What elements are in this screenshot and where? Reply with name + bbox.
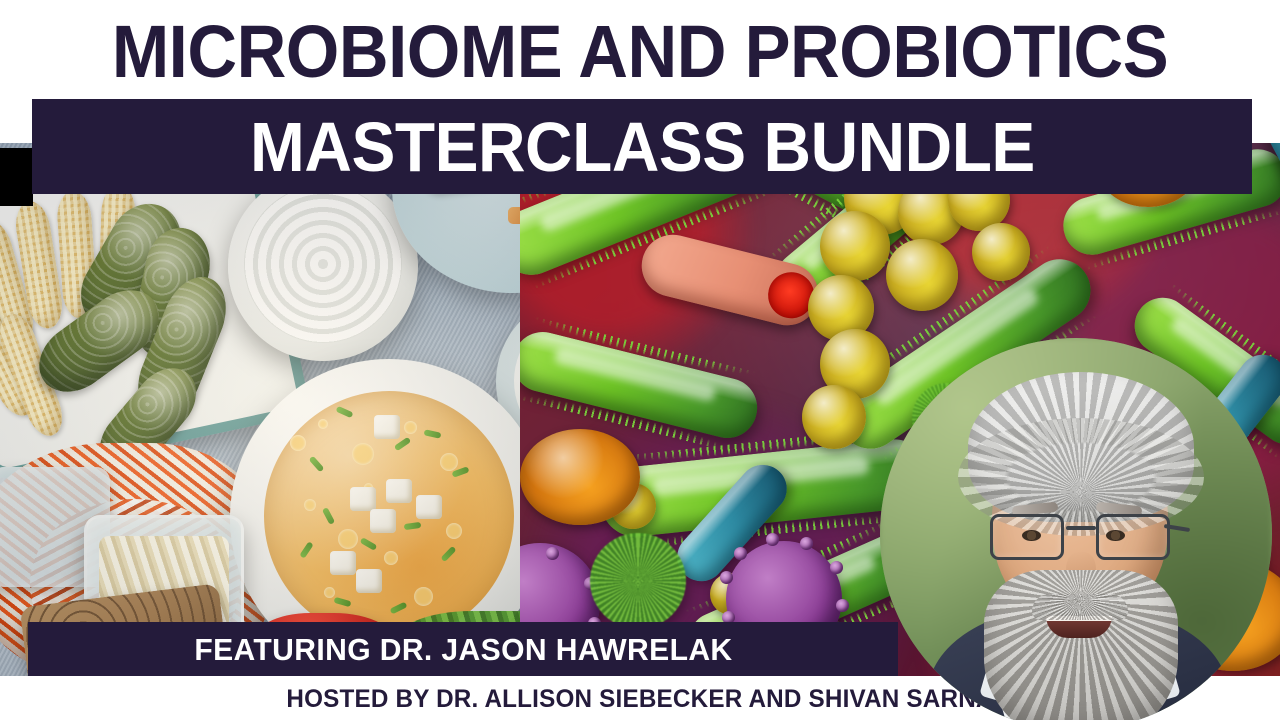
chive	[322, 507, 335, 525]
image-blend-seam	[500, 143, 640, 676]
black-corner-accent	[0, 148, 33, 206]
yellow-coccus	[802, 385, 866, 449]
subtitle-text: MASTERCLASS BUNDLE	[250, 112, 1035, 182]
portrait-eyeglasses	[992, 514, 1168, 562]
baby-corn	[12, 199, 66, 331]
portrait-moustache	[1032, 594, 1128, 620]
miso-broth	[264, 391, 514, 641]
featuring-text: FEATURING DR. JASON HAWRELAK	[194, 634, 732, 665]
yellow-coccus	[820, 211, 890, 281]
tofu-cube	[370, 509, 396, 533]
chive	[299, 541, 313, 558]
baby-corn	[0, 217, 39, 349]
pickled-gherkin	[87, 356, 210, 487]
chive	[390, 602, 408, 615]
portrait-beard	[984, 570, 1178, 720]
page-title: MICROBIOME AND PROBIOTICS	[45, 6, 1235, 98]
tofu-cube	[416, 495, 442, 519]
chive	[451, 466, 469, 477]
portrait-hair	[968, 372, 1194, 522]
chive	[394, 437, 411, 451]
pickled-gherkin	[127, 222, 217, 364]
subtitle-banner: MASTERCLASS BUNDLE	[32, 99, 1252, 194]
tofu-cube	[374, 415, 400, 439]
tofu-cube	[350, 487, 376, 511]
pickled-gherkin	[67, 191, 195, 343]
eyeglass-lens-left	[990, 514, 1064, 560]
pickled-gherkin	[26, 276, 172, 406]
speaker-portrait	[880, 338, 1272, 720]
chive	[360, 537, 378, 551]
baby-corn	[0, 309, 69, 441]
poster-canvas: MICROBIOME AND PROBIOTICS MASTERCLASS BU…	[0, 0, 1280, 720]
featuring-banner: FEATURING DR. JASON HAWRELAK	[28, 622, 898, 676]
baby-corn	[0, 292, 42, 422]
tofu-cube	[386, 479, 412, 503]
pickled-gherkin	[126, 267, 238, 429]
sour-cream-surface	[244, 185, 402, 343]
chive	[336, 406, 354, 418]
glass-jar-small	[0, 467, 110, 587]
baby-corn	[98, 184, 136, 313]
chive	[309, 456, 325, 473]
eyeglass-bridge	[1066, 526, 1096, 530]
yellow-coccus	[972, 223, 1030, 281]
sour-cream-bowl	[228, 171, 418, 361]
baby-corn	[56, 190, 99, 320]
tofu-cube	[330, 551, 356, 575]
yellow-coccus	[886, 239, 958, 311]
eyeglass-lens-right	[1096, 514, 1170, 560]
chive	[440, 546, 456, 562]
tofu-cube	[356, 569, 382, 593]
chive	[404, 522, 422, 530]
chive	[334, 597, 352, 607]
chive	[424, 429, 442, 438]
